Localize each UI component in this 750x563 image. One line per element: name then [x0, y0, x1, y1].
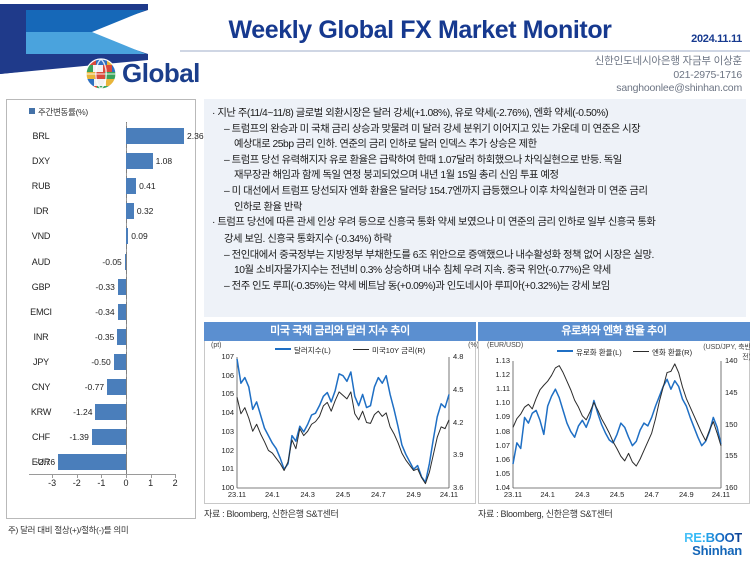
bar-tick: [126, 324, 127, 327]
contact-block: 신한인도네시아은행 자금부 이상훈 021-2975-1716 sanghoon…: [595, 55, 742, 96]
x-axis-tick-label: 24.9: [401, 490, 427, 499]
legend-label: 엔화 환율(R): [652, 348, 692, 357]
bar-chart-footnote: 주) 달러 대비 절상(+)/절하(-)를 의미: [8, 524, 128, 536]
line-series: [237, 359, 449, 483]
y-axis-tick-left: 104: [208, 408, 234, 417]
bar-segment: [126, 228, 128, 244]
bar-tick: [126, 198, 127, 201]
bar-value-label: -0.34: [95, 299, 114, 325]
legend-line-icon: [353, 349, 369, 351]
bar-category-label: GBP: [17, 274, 65, 300]
x-axis-tick-label: 24.7: [639, 490, 665, 499]
x-axis-tick-label: 24.11: [708, 490, 734, 499]
y-axis-tick-left: 106: [208, 371, 234, 380]
bar-x-tick-label: -1: [91, 478, 111, 488]
bar-x-tick: [101, 474, 102, 478]
bar-row: IDR0.32: [7, 198, 197, 224]
page-title: Weekly Global FX Market Monitor: [210, 16, 630, 45]
bar-x-tick: [52, 474, 53, 478]
bar-value-label: 0.32: [137, 198, 154, 224]
bar-segment: [107, 379, 126, 395]
y-axis-tick-left: 1.08: [484, 427, 510, 436]
y-axis-tick-right: 145: [725, 388, 745, 397]
bar-row: DXY1.08: [7, 148, 197, 174]
report-date: 2024.11.11: [691, 33, 742, 45]
bar-legend-label: 주간변동률(%): [38, 107, 88, 117]
bar-tick: [126, 123, 127, 126]
left-axis-unit: (pt): [211, 342, 222, 349]
bar-value-label: -1.24: [73, 399, 92, 425]
x-axis-tick-label: 24.9: [673, 490, 699, 499]
header-divider: [180, 50, 750, 52]
bar-tick: [126, 148, 127, 151]
y-axis-tick-left: 1.06: [484, 455, 510, 464]
chart-panel-eur-jpy: 유로화와 엔화 환율 추이 1.131.121.111.101.091.081.…: [478, 322, 750, 522]
bar-value-label: -0.77: [85, 374, 104, 400]
bar-tick: [126, 374, 127, 377]
line-series: [513, 379, 721, 464]
chart-legend-item: 엔화 환율(R): [633, 347, 692, 358]
bar-segment: [118, 304, 126, 320]
bar-segment: [118, 279, 126, 295]
bar-value-label: 1.08: [156, 148, 173, 174]
bar-category-label: RUB: [17, 173, 65, 199]
bar-value-label: 0.09: [131, 223, 148, 249]
y-axis-tick-right: 4.8: [453, 352, 473, 361]
bar-x-tick-label: -2: [67, 478, 87, 488]
bar-tick: [126, 424, 127, 427]
commentary-line: 10월 소비자물가지수는 전년비 0.3% 상승하며 내수 침체 우려 지속. …: [234, 264, 611, 277]
bar-x-tick-label: 0: [116, 478, 136, 488]
bar-tick: [126, 274, 127, 277]
bar-row: EUR-2.76: [7, 449, 197, 475]
chart-body-eur-jpy: 1.131.121.111.101.091.081.071.061.051.04…: [478, 341, 750, 504]
legend-line-icon: [557, 350, 573, 353]
left-axis-unit: (EUR/USD): [487, 342, 523, 349]
bar-x-tick: [77, 474, 78, 478]
right-axis-unit: (USD/JPY, 축반전): [703, 342, 750, 362]
bar-plot-area: BRL2.36DXY1.08RUB0.41IDR0.32VND0.09AUD-0…: [7, 122, 197, 492]
page-root: Weekly Global FX Market Monitor 2024.11.…: [0, 0, 750, 563]
y-axis-tick-left: 105: [208, 389, 234, 398]
bar-segment: [117, 329, 126, 345]
bar-value-label: -2.76: [36, 449, 55, 475]
bar-tick: [126, 349, 127, 352]
brand-global-label: Global: [122, 58, 200, 89]
bar-chart-legend: 주간변동률(%): [29, 106, 88, 118]
y-axis-tick-left: 1.12: [484, 370, 510, 379]
commentary-line: – 전인대에서 중국정부는 지방정부 부채한도를 6조 위안으로 증액했으나 내…: [224, 249, 654, 262]
right-axis-unit: (%): [431, 342, 479, 349]
bar-x-tick-label: -3: [42, 478, 62, 488]
bar-segment: [114, 354, 126, 370]
commentary-line: 인하로 환율 반락: [234, 201, 302, 214]
bar-x-tick: [151, 474, 152, 478]
bar-value-label: -0.50: [91, 349, 110, 375]
bar-row: JPY-0.50: [7, 349, 197, 375]
page-header: Weekly Global FX Market Monitor 2024.11.…: [0, 0, 750, 96]
x-axis-tick-label: 24.5: [604, 490, 630, 499]
x-axis-tick-label: 23.11: [224, 490, 250, 499]
bar-category-label: BRL: [17, 123, 65, 149]
commentary-line: · 지난 주(11/4~11/8) 글로벌 외환시장은 달러 강세(+1.08%…: [212, 107, 608, 120]
bar-category-label: INR: [17, 324, 65, 350]
bar-x-tick: [175, 474, 176, 478]
legend-line-icon: [633, 351, 649, 353]
bar-tick: [126, 449, 127, 452]
bar-value-label: -1.39: [69, 424, 88, 450]
chart-legend-item: 유로화 환율(L): [557, 347, 622, 358]
chart-title-ust-dollar: 미국 국채 금리와 달러 지수 추이: [204, 322, 476, 341]
contact-author: 신한인도네시아은행 자금부 이상훈: [595, 55, 742, 69]
reboot-shinhan-logo: RE:BOOT Shinhan: [684, 531, 742, 557]
chart-legend-item: 미국10Y 금리(R): [353, 345, 425, 356]
bar-segment: [58, 454, 126, 470]
x-axis-tick-label: 24.5: [330, 490, 356, 499]
y-axis-tick-left: 1.11: [484, 384, 510, 393]
commentary-line: – 전주 인도 루피(-0.35%)는 약세 베트남 동(+0.09%)과 인도…: [224, 280, 610, 293]
bar-tick: [126, 299, 127, 302]
y-axis-tick-right: 150: [725, 420, 745, 429]
bar-category-label: JPY: [17, 349, 65, 375]
bar-category-label: IDR: [17, 198, 65, 224]
bar-row: CNY-0.77: [7, 374, 197, 400]
bar-x-tick-label: 1: [141, 478, 161, 488]
line-chart-svg: [479, 341, 749, 502]
contact-email: sanghoonlee@shinhan.com: [595, 82, 742, 96]
bar-row: EMCI-0.34: [7, 299, 197, 325]
y-axis-tick-left: 1.13: [484, 356, 510, 365]
bar-segment: [125, 254, 126, 270]
contact-phone: 021-2975-1716: [595, 69, 742, 83]
bar-category-label: EMCI: [17, 299, 65, 325]
bar-segment: [126, 203, 134, 219]
y-axis-tick-right: 4.5: [453, 385, 473, 394]
commentary-line: 강세 보임. 신흥국 통화지수 (-0.34%) 하락: [224, 233, 392, 246]
bar-value-label: -0.35: [95, 324, 114, 350]
bar-value-label: 0.41: [139, 173, 156, 199]
bar-category-label: AUD: [17, 249, 65, 275]
commentary-line: · 트럼프 당선에 따른 관세 인상 우려 등으로 신흥국 통화 약세 보였으나…: [212, 216, 655, 229]
legend-line-icon: [275, 348, 291, 351]
chart-source-eur-jpy: 자료 : Bloomberg, 신한은행 S&T센터: [478, 504, 750, 520]
bar-category-label: CHF: [17, 424, 65, 450]
bar-value-label: -0.05: [102, 249, 121, 275]
y-axis-tick-left: 1.10: [484, 398, 510, 407]
bar-tick: [126, 223, 127, 226]
bar-value-label: -0.33: [96, 274, 115, 300]
bar-tick: [126, 249, 127, 252]
bar-row: RUB0.41: [7, 173, 197, 199]
bar-segment: [95, 404, 126, 420]
line-chart-svg: [205, 341, 475, 502]
y-axis-tick-right: 3.9: [453, 450, 473, 459]
bar-x-tick-label: 2: [165, 478, 185, 488]
commentary-line: 재무장관 해임과 함께 독일 연정 붕괴되었으며 내년 1월 15일 총리 신임…: [234, 169, 558, 182]
bar-category-label: DXY: [17, 148, 65, 174]
x-axis-tick-label: 24.11: [436, 490, 462, 499]
commentary-line: – 미 대선에서 트럼프 당선되자 엔화 환율은 달러당 154.7엔까지 급등…: [224, 185, 647, 198]
bar-category-label: KRW: [17, 399, 65, 425]
chart-panel-ust-dollar: 미국 국채 금리와 달러 지수 추이 107106105104103102101…: [204, 322, 476, 522]
x-axis-tick-label: 24.7: [365, 490, 391, 499]
chart-legend-item: 달러지수(L): [275, 345, 331, 356]
chart-source-ust-dollar: 자료 : Bloomberg, 신한은행 S&T센터: [204, 504, 476, 520]
globe-icon: [84, 57, 118, 91]
commentary-line: – 트럼프 당선 유력해지자 유로 환율은 급락하여 한때 1.07달러 하회했…: [224, 154, 622, 167]
bar-row: VND0.09: [7, 223, 197, 249]
x-axis-tick-label: 24.1: [535, 490, 561, 499]
bar-tick: [126, 399, 127, 402]
legend-label: 미국10Y 금리(R): [372, 346, 425, 355]
bar-category-label: VND: [17, 223, 65, 249]
y-axis-tick-left: 101: [208, 464, 234, 473]
bar-row: GBP-0.33: [7, 274, 197, 300]
shinhan-label: Shinhan: [684, 544, 742, 557]
chart-body-ust-dollar: 1071061051041031021011004.84.54.23.93.62…: [204, 341, 476, 504]
bar-category-label: CNY: [17, 374, 65, 400]
weekly-change-bar-chart: 주간변동률(%) BRL2.36DXY1.08RUB0.41IDR0.32VND…: [6, 99, 196, 519]
bar-value-label: 2.36: [187, 123, 204, 149]
y-axis-tick-left: 102: [208, 446, 234, 455]
legend-label: 달러지수(L): [294, 346, 331, 355]
bar-segment: [126, 178, 136, 194]
bar-segment: [92, 429, 126, 445]
x-axis-tick-label: 24.3: [295, 490, 321, 499]
bar-x-tick: [126, 474, 127, 478]
y-axis-tick-left: 1.07: [484, 441, 510, 450]
y-axis-tick-left: 1.05: [484, 469, 510, 478]
bar-row: BRL2.36: [7, 123, 197, 149]
y-axis-tick-left: 103: [208, 427, 234, 436]
bar-segment: [126, 128, 184, 144]
legend-label: 유로화 환율(L): [576, 348, 622, 357]
commentary-line: – 트럼프의 완승과 미 국채 금리 상승과 맞물려 미 달러 강세 분위기 이…: [224, 123, 640, 136]
commentary-panel: · 지난 주(11/4~11/8) 글로벌 외환시장은 달러 강세(+1.08%…: [204, 99, 746, 317]
bar-segment: [126, 153, 153, 169]
y-axis-tick-left: 1.09: [484, 412, 510, 421]
bar-tick: [126, 173, 127, 176]
bar-row: AUD-0.05: [7, 249, 197, 275]
x-axis-tick-label: 24.3: [569, 490, 595, 499]
legend-swatch-icon: [29, 108, 35, 114]
commentary-line: 예상대로 25bp 금리 인하. 연준의 금리 인하로 달러 인덱스 추가 상승…: [234, 138, 537, 151]
y-axis-tick-right: 155: [725, 451, 745, 460]
chart-title-eur-jpy: 유로화와 엔화 환율 추이: [478, 322, 750, 341]
bar-row: CHF-1.39: [7, 424, 197, 450]
x-axis-tick-label: 24.1: [259, 490, 285, 499]
bar-row: KRW-1.24: [7, 399, 197, 425]
y-axis-tick-left: 107: [208, 352, 234, 361]
x-axis-tick-label: 23.11: [500, 490, 526, 499]
bar-row: INR-0.35: [7, 324, 197, 350]
y-axis-tick-right: 4.2: [453, 418, 473, 427]
